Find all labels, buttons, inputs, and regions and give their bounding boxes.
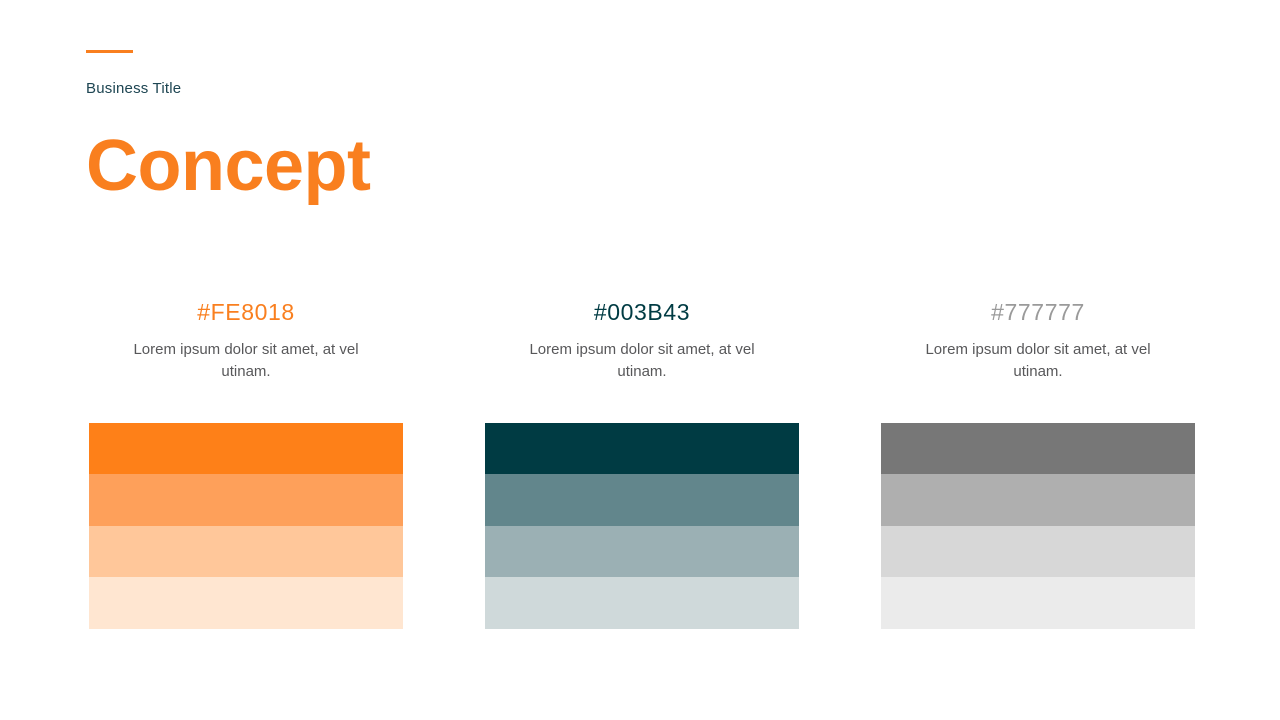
slide-canvas: Business Title Concept #FE8018 Lorem ips…: [0, 0, 1280, 720]
swatch-band-teal-50: [485, 526, 799, 578]
swatch-band-teal-75: [485, 474, 799, 526]
palette-column-orange: #FE8018 Lorem ipsum dolor sit amet, at v…: [89, 300, 403, 629]
hex-label-orange: #FE8018: [197, 300, 295, 325]
palette-column-gray: #777777 Lorem ipsum dolor sit amet, at v…: [881, 300, 1195, 629]
swatch-band-gray-100: [881, 423, 1195, 475]
palette-column-teal: #003B43 Lorem ipsum dolor sit amet, at v…: [485, 300, 799, 629]
slide-header: Business Title Concept: [86, 50, 686, 202]
swatch-band-gray-25: [881, 577, 1195, 629]
swatch-band-orange-25: [89, 577, 403, 629]
swatch-stack-orange: [89, 423, 403, 629]
accent-rule-decoration: [86, 50, 133, 53]
swatch-stack-teal: [485, 423, 799, 629]
swatch-band-teal-100: [485, 423, 799, 475]
swatch-band-teal-25: [485, 577, 799, 629]
hex-label-gray: #777777: [991, 300, 1085, 325]
column-gap-1: [403, 300, 485, 629]
swatch-band-orange-75: [89, 474, 403, 526]
swatch-band-orange-50: [89, 526, 403, 578]
column-gap-2: [799, 300, 881, 629]
description-orange: Lorem ipsum dolor sit amet, at vel utina…: [121, 339, 371, 382]
swatch-band-orange-100: [89, 423, 403, 475]
color-palette-section: #FE8018 Lorem ipsum dolor sit amet, at v…: [0, 300, 1280, 629]
swatch-band-gray-75: [881, 474, 1195, 526]
description-gray: Lorem ipsum dolor sit amet, at vel utina…: [913, 339, 1163, 382]
eyebrow-business-title: Business Title: [86, 81, 686, 98]
page-title: Concept: [86, 130, 686, 202]
left-margin-spacer: [0, 300, 89, 629]
swatch-stack-gray: [881, 423, 1195, 629]
description-teal: Lorem ipsum dolor sit amet, at vel utina…: [517, 339, 767, 382]
swatch-band-gray-50: [881, 526, 1195, 578]
hex-label-teal: #003B43: [594, 300, 690, 325]
